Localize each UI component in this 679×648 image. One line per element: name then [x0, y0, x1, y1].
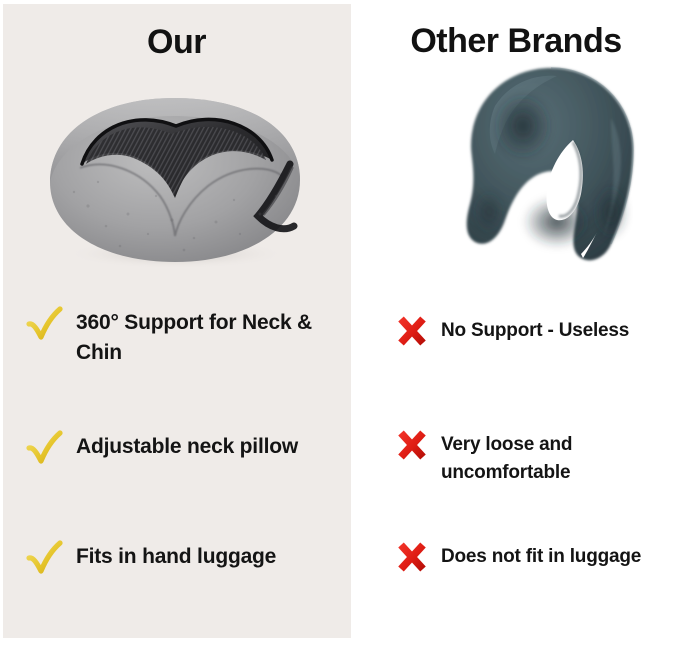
feature-item: Adjustable neck pillow: [24, 428, 342, 470]
feature-label: Does not fit in luggage: [441, 540, 641, 571]
feature-item: 360° Support for Neck & Chin: [24, 304, 342, 368]
feature-item: No Support - Useless: [395, 314, 679, 348]
feature-label: Fits in hand luggage: [76, 538, 276, 572]
feature-list-ours: 360° Support for Neck & Chin Adjustable …: [0, 0, 353, 648]
feature-label: Very loose and uncomfortable: [441, 428, 679, 487]
product-comparison-infographic: Our: [0, 0, 679, 648]
cross-icon: [395, 314, 429, 348]
check-icon: [24, 538, 64, 580]
check-icon: [24, 428, 64, 470]
cross-icon: [395, 540, 429, 574]
check-icon: [24, 304, 64, 346]
panel-ours: Our: [0, 0, 353, 648]
panel-other-brands: Other Brands: [353, 0, 679, 648]
feature-item: Very loose and uncomfortable: [395, 428, 679, 487]
feature-item: Fits in hand luggage: [24, 538, 342, 580]
cross-icon: [395, 428, 429, 462]
feature-label: 360° Support for Neck & Chin: [76, 304, 342, 368]
feature-list-other-brands: No Support - Useless Very loose and unco…: [353, 0, 679, 648]
feature-label: No Support - Useless: [441, 314, 629, 345]
feature-item: Does not fit in luggage: [395, 540, 679, 574]
feature-label: Adjustable neck pillow: [76, 428, 298, 462]
